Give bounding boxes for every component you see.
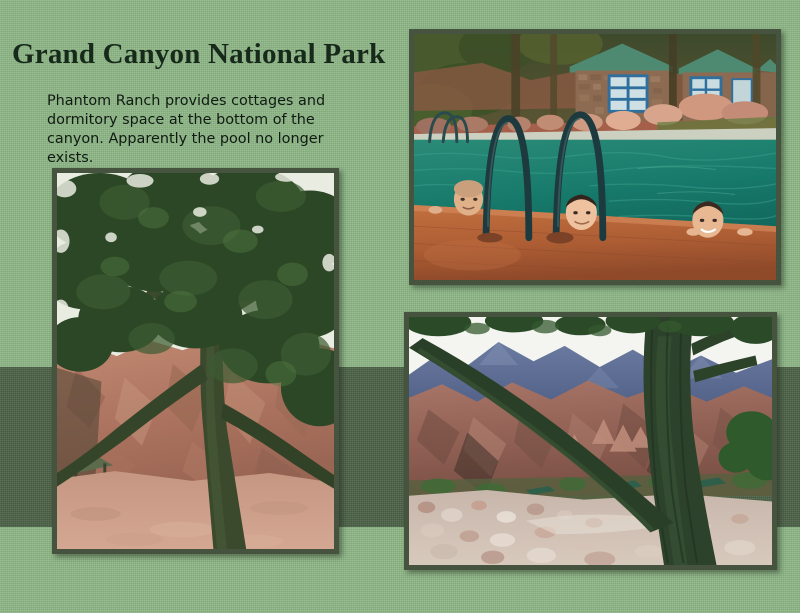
- slide-page: Grand Canyon National Park Phantom Ranch…: [0, 0, 800, 613]
- page-title: Grand Canyon National Park: [12, 38, 385, 70]
- photo-swimming-pool[interactable]: [409, 29, 781, 285]
- body-paragraph: Phantom Ranch provides cottages and dorm…: [47, 92, 365, 167]
- photo-cottonwood-tree[interactable]: [52, 168, 339, 554]
- photo-cottonwood-tree-image: [57, 173, 334, 549]
- photo-canyon-landscape[interactable]: [404, 312, 777, 570]
- photo-canyon-landscape-image: [409, 317, 772, 565]
- photo-swimming-pool-image: [414, 34, 776, 280]
